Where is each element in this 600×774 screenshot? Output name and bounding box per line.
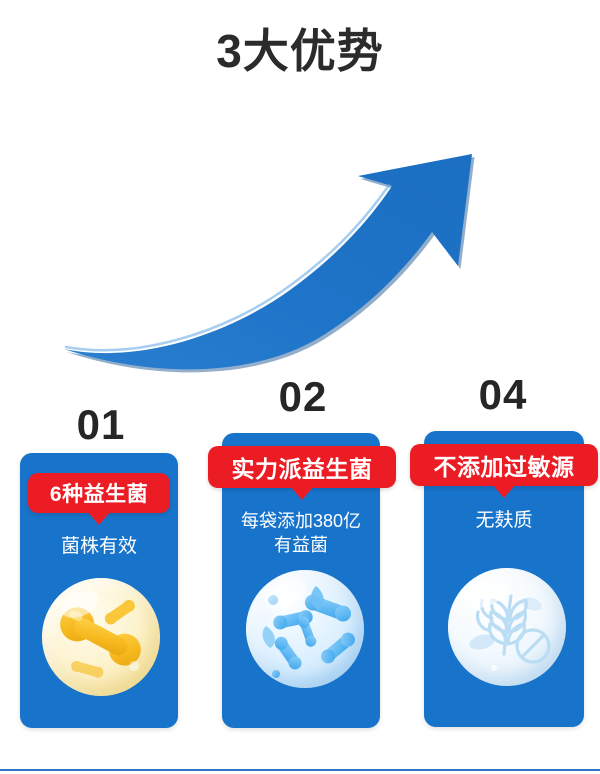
yellow-probiotic-bubble-icon: [42, 578, 160, 696]
advantage-caption-2: 每袋添加380亿 有益菌: [222, 510, 380, 558]
blue-probiotic-bubble-icon: [246, 570, 364, 688]
advantage-badge-2[interactable]: 实力派益生菌: [208, 446, 396, 488]
page-title: 3大优势: [0, 26, 600, 77]
growth-arrow-icon: [40, 150, 510, 380]
advantage-caption-1: 菌株有效: [20, 534, 178, 559]
advantage-badge-1[interactable]: 6种益生菌: [28, 473, 170, 513]
step-number-04: 04: [458, 374, 548, 416]
step-number-02: 02: [258, 376, 348, 418]
advantage-caption-3: 无麸质: [424, 508, 584, 533]
bottom-divider: [0, 769, 600, 771]
step-number-01: 01: [56, 404, 146, 446]
advantages-infographic: 3大优势 01 02 04 菌株有效: [0, 0, 600, 774]
advantage-badge-3[interactable]: 不添加过敏源: [410, 444, 598, 486]
gluten-free-bubble-icon: [448, 568, 566, 686]
